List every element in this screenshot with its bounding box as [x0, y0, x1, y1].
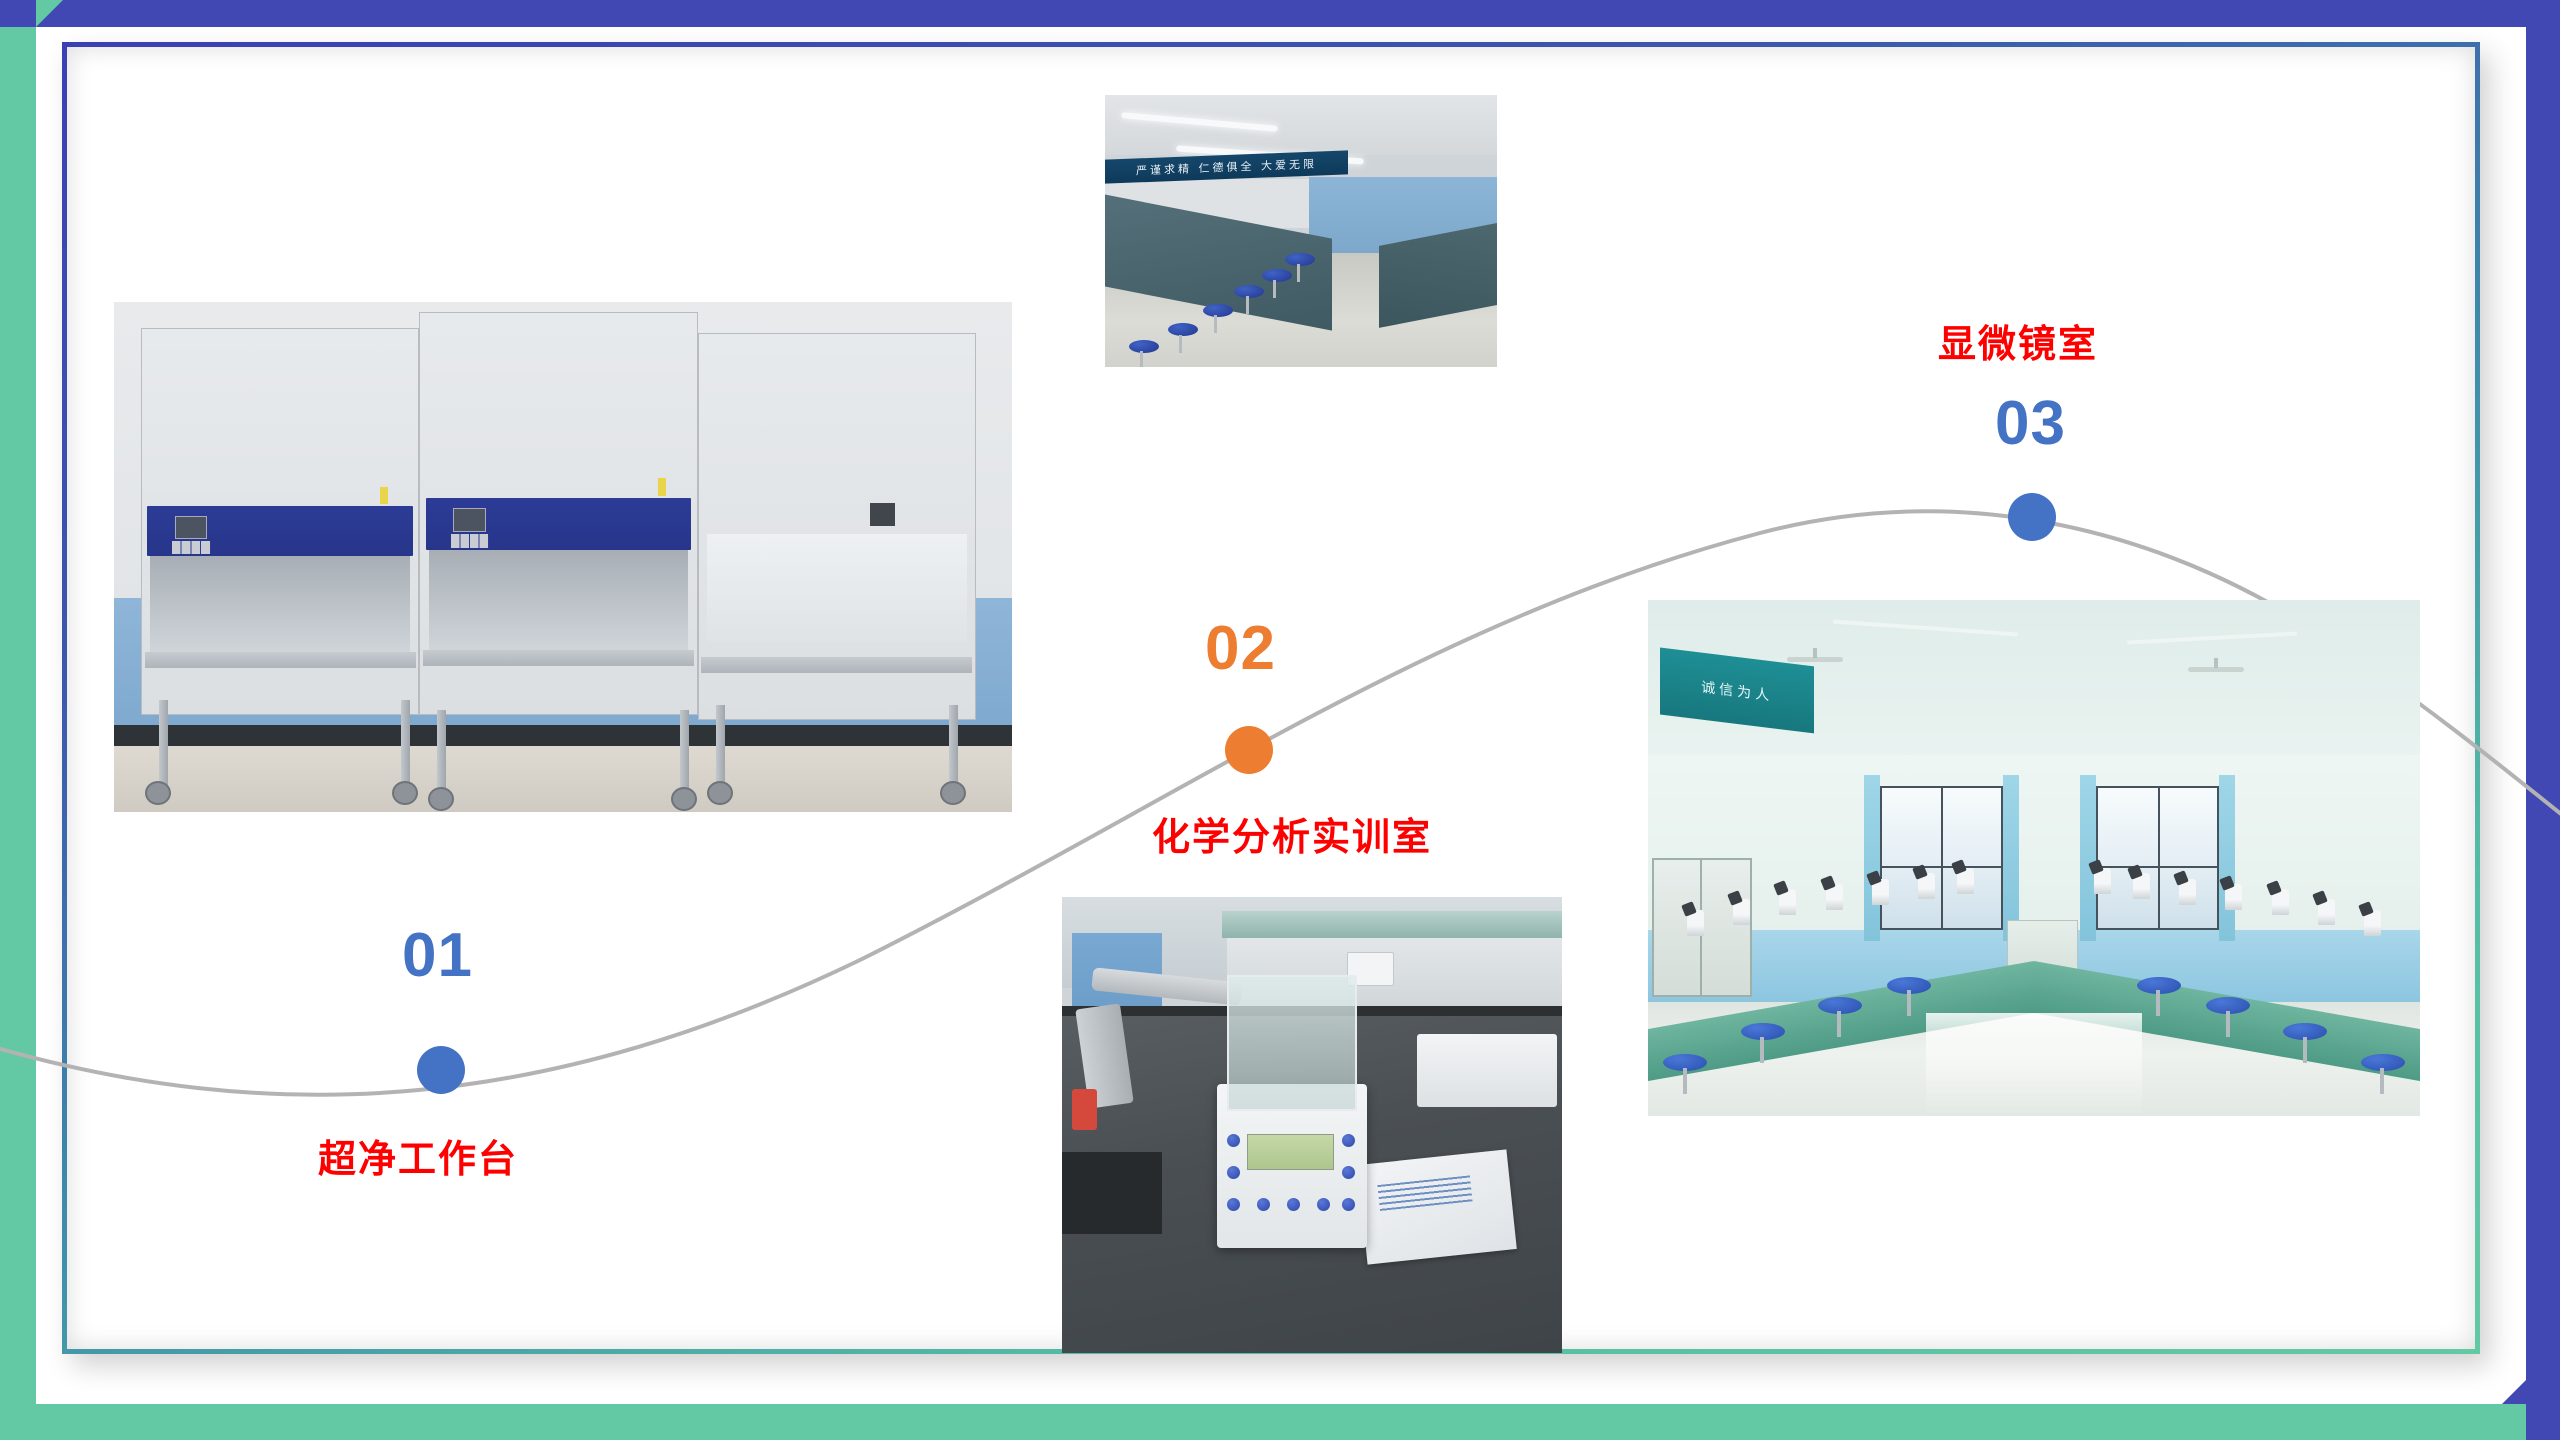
photo-clean-bench — [114, 302, 1012, 812]
timeline-number-03: 03 — [1995, 393, 2066, 455]
timeline-label-02: 化学分析实训室 — [1152, 818, 1432, 856]
photo-microscope-room: 诚信为人 — [1648, 600, 2420, 1116]
decor-band-right — [2526, 0, 2560, 1440]
photo-chem-lab: 严谨求精 仁德俱全 大爱无限 — [1105, 95, 1497, 367]
decor-corner-notch-topleft — [36, 0, 63, 27]
timeline-label-03: 显微镜室 — [1938, 325, 2098, 363]
timeline-dot-03[interactable] — [2005, 490, 2059, 544]
timeline-dot-01[interactable] — [414, 1043, 468, 1097]
decor-band-bottom — [0, 1404, 2560, 1440]
decor-band-left — [0, 0, 36, 1440]
decor-corner-notch-bottomright — [2502, 1380, 2526, 1404]
photo-analytical-balance — [1062, 897, 1562, 1353]
decor-band-top — [0, 0, 2560, 27]
timeline-number-01: 01 — [402, 925, 473, 987]
timeline-label-01: 超净工作台 — [318, 1140, 518, 1178]
timeline-number-02: 02 — [1205, 618, 1276, 680]
timeline-dot-02[interactable] — [1222, 723, 1276, 777]
slide-canvas: 严谨求精 仁德俱全 大爱无限 诚信为人 — [0, 0, 2560, 1440]
